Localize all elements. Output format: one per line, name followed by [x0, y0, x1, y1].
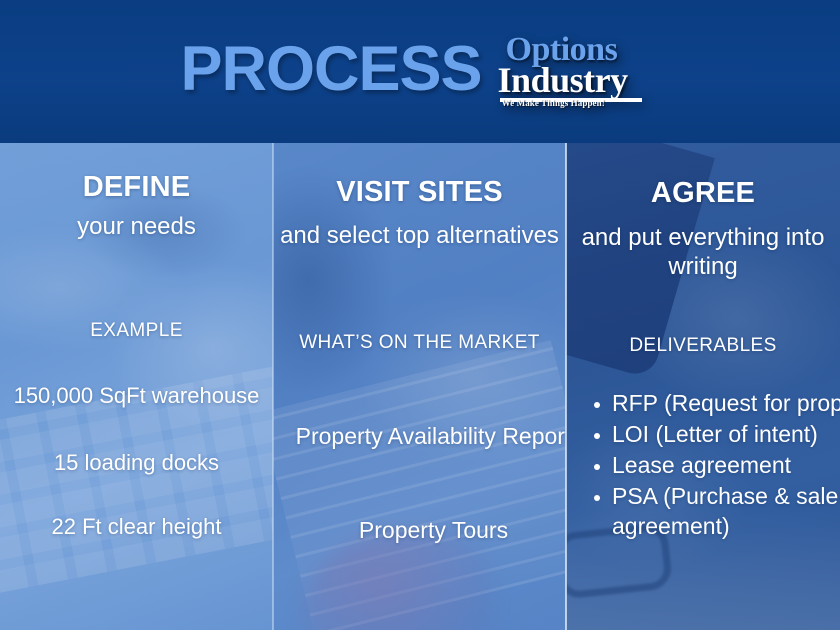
header-bar: PROCESS Options Industry We Make Things … [0, 0, 840, 143]
define-title: DEFINE [0, 172, 273, 202]
process-columns: DEFINE your needs EXAMPLE 150,000 SqFt w… [0, 143, 840, 630]
agree-title: AGREE [566, 178, 840, 208]
visit-sites-item-1: Property Availability Report [273, 422, 566, 451]
list-item: LOI (Letter of intent) [612, 420, 840, 450]
visit-sites-subtitle: and select top alternatives [273, 221, 566, 250]
list-item: PSA (Purchase & sale agreement) [612, 482, 840, 542]
agree-subtitle: and put everything into writing [566, 223, 840, 282]
logo-word-industry: Industry [498, 62, 628, 98]
process-step-visit-sites: VISIT SITES and select top alternatives … [273, 143, 566, 630]
visit-sites-title: VISIT SITES [273, 177, 566, 207]
page-title: PROCESS [180, 38, 481, 101]
define-item-3: 22 Ft clear height [0, 514, 273, 540]
logo-tagline: We Make Things Happen! [502, 99, 605, 108]
visit-sites-item-2: Property Tours [273, 516, 566, 545]
list-item: Lease agreement [612, 451, 840, 481]
process-step-define: DEFINE your needs EXAMPLE 150,000 SqFt w… [0, 143, 273, 630]
column-divider-1 [272, 143, 274, 630]
agree-kicker: DELIVERABLES [566, 334, 840, 358]
define-item-1: 150,000 SqFt warehouse [0, 383, 273, 409]
define-kicker: EXAMPLE [0, 319, 273, 343]
define-item-2: 15 loading docks [0, 450, 273, 476]
list-item: RFP (Request for proposal) [612, 389, 840, 419]
define-subtitle: your needs [0, 212, 273, 241]
slide-canvas: PROCESS Options Industry We Make Things … [0, 0, 840, 630]
column-divider-2 [565, 143, 567, 630]
visit-sites-kicker: WHAT’S ON THE MARKET [273, 331, 566, 355]
agree-deliverables-list: RFP (Request for proposal) LOI (Letter o… [584, 389, 840, 542]
process-step-agree: AGREE and put everything into writing DE… [566, 143, 840, 630]
options-industry-logo: Options Industry We Make Things Happen! [494, 35, 660, 113]
